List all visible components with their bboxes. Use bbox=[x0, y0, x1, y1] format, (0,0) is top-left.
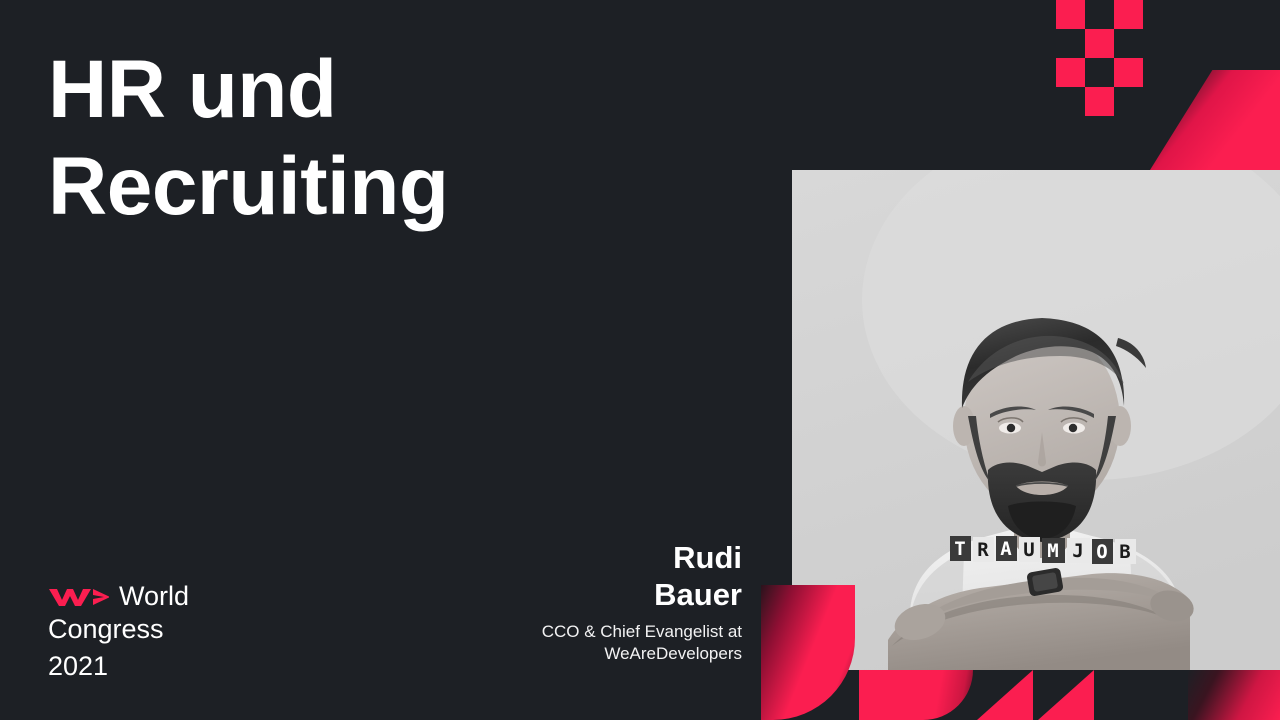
brand-word: World bbox=[119, 583, 189, 610]
accent-gradient-block bbox=[1188, 670, 1280, 720]
page-title: HR und Recruiting bbox=[48, 42, 688, 236]
accent-rounded-bar bbox=[761, 585, 855, 720]
svg-text:A: A bbox=[1000, 538, 1012, 560]
svg-text:R: R bbox=[977, 539, 989, 561]
wearedevelopers-logo-icon bbox=[48, 585, 110, 609]
speaker-role: CCO & Chief Evangelist at WeAreDeveloper… bbox=[412, 621, 742, 665]
accent-rounded-shape bbox=[859, 670, 973, 720]
svg-text:M: M bbox=[1047, 540, 1058, 562]
accent-triangle bbox=[977, 670, 1033, 720]
checker-cell bbox=[1085, 87, 1114, 116]
checker-cell bbox=[1085, 29, 1114, 58]
brand-line-congress: Congress bbox=[48, 612, 189, 647]
svg-text:J: J bbox=[1072, 540, 1083, 562]
checkerboard-pattern bbox=[1056, 0, 1172, 58]
checker-cell bbox=[1056, 0, 1085, 29]
brand-lockup: World Congress 2021 bbox=[48, 583, 189, 683]
speaker-info: Rudi Bauer CCO & Chief Evangelist at WeA… bbox=[412, 540, 742, 665]
shirt-text: T R A U M J O B bbox=[950, 536, 1136, 564]
svg-text:B: B bbox=[1119, 541, 1130, 563]
svg-text:U: U bbox=[1023, 539, 1034, 561]
speaker-name: Rudi Bauer bbox=[412, 540, 742, 613]
checker-cell bbox=[1114, 0, 1143, 29]
accent-parallelogram bbox=[1150, 70, 1280, 170]
checker-cell bbox=[1056, 58, 1085, 87]
accent-triangle bbox=[1038, 670, 1094, 720]
checker-cell bbox=[1114, 58, 1143, 87]
svg-text:O: O bbox=[1096, 541, 1107, 563]
svg-text:T: T bbox=[954, 538, 965, 560]
presentation-slide: HR und Recruiting bbox=[0, 0, 1280, 720]
brand-line-year: 2021 bbox=[48, 649, 189, 684]
